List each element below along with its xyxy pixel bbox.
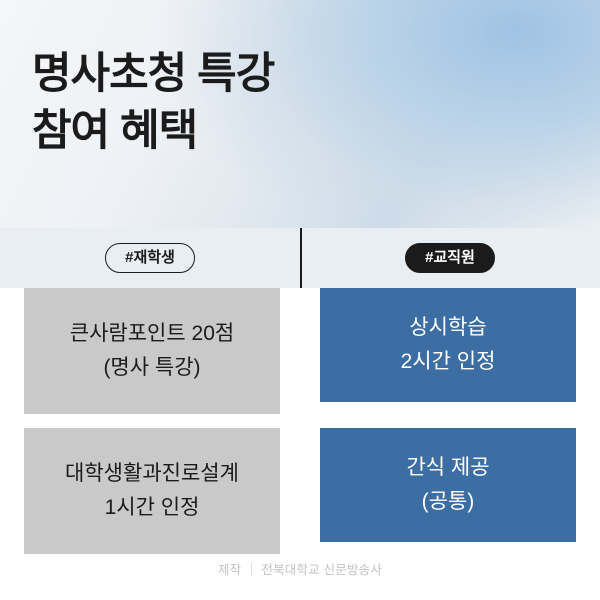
benefit-card-student-1: 큰사람포인트 20점 (명사 특강) <box>24 288 280 414</box>
footer-credit: 제작 ｜ 전북대학교 신문방송사 <box>0 559 600 578</box>
benefit-column-staff: 상시학습 2시간 인정 간식 제공 (공통) <box>320 288 576 542</box>
audience-tab-strip: #재학생 #교직원 <box>0 228 600 288</box>
tab-staff[interactable]: #교직원 <box>405 243 495 273</box>
page-title: 명사초청 특강 참여 혜택 <box>32 46 274 160</box>
tab-cell-students: #재학생 <box>0 228 300 288</box>
benefit-card-grid: 큰사람포인트 20점 (명사 특강) 대학생활과진로설계 1시간 인정 상시학습… <box>0 288 600 552</box>
benefit-card-student-2: 대학생활과진로설계 1시간 인정 <box>24 428 280 554</box>
poster-canvas: 명사초청 특강 참여 혜택 #재학생 #교직원 큰사람포인트 20점 (명사 특… <box>0 0 600 600</box>
benefit-card-staff-1: 상시학습 2시간 인정 <box>320 288 576 402</box>
benefit-card-staff-2: 간식 제공 (공통) <box>320 428 576 542</box>
benefit-column-students: 큰사람포인트 20점 (명사 특강) 대학생활과진로설계 1시간 인정 <box>24 288 280 554</box>
tab-students[interactable]: #재학생 <box>105 243 195 273</box>
header-banner: 명사초청 특강 참여 혜택 <box>0 0 600 228</box>
tab-cell-staff: #교직원 <box>300 228 600 288</box>
